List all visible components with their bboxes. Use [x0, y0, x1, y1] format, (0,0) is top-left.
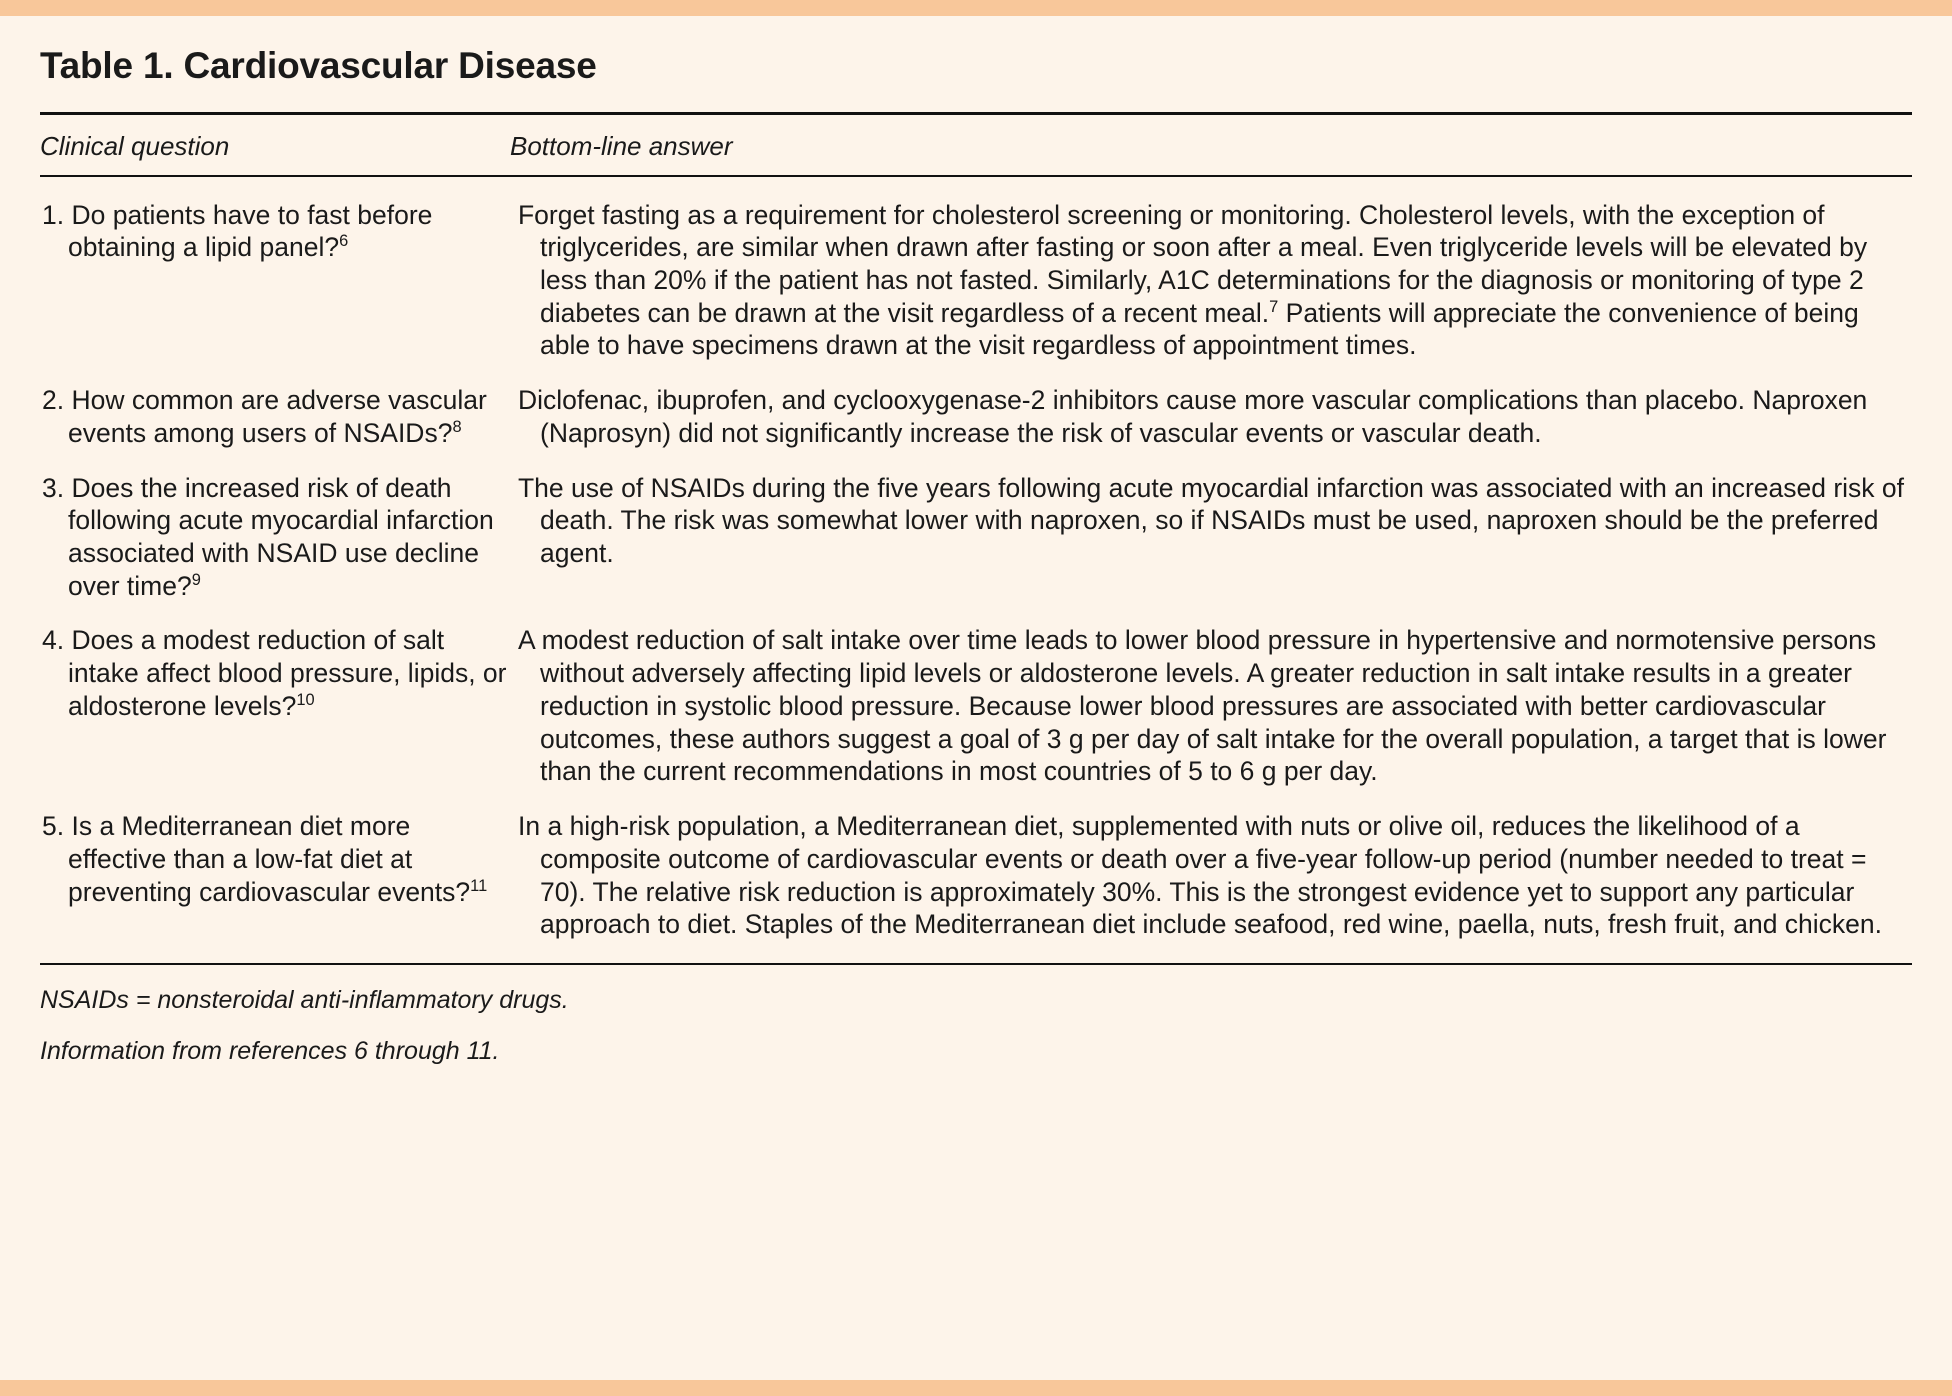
question-text: How common are adverse vascular events a…	[68, 385, 487, 448]
answer-cell: A modest reduction of salt intake over t…	[510, 624, 1912, 788]
question-reference: 8	[452, 418, 461, 436]
answer-text: In a high-risk population, a Mediterrane…	[518, 811, 1882, 939]
table-row: 3. Does the increased risk of death foll…	[40, 472, 1912, 603]
page-title: Table 1. Cardiovascular Disease	[40, 44, 1912, 88]
question-reference: 11	[470, 877, 487, 895]
question-text: Do patients have to fast before obtainin…	[68, 200, 432, 263]
question-number: 2.	[42, 385, 64, 415]
table-row: 4. Does a modest reduction of salt intak…	[40, 624, 1912, 788]
question-text: Is a Mediterranean diet more effective t…	[68, 811, 470, 906]
table-row: 2. How common are adverse vascular event…	[40, 384, 1912, 449]
question-text: Does the increased risk of death followi…	[68, 473, 494, 601]
column-header-row: Clinical question Bottom-line answer	[40, 115, 1912, 174]
footnote-abbreviations: NSAIDs = nonsteroidal anti-inflammatory …	[40, 985, 1912, 1016]
answer-cell: Diclofenac, ibuprofen, and cyclooxygenas…	[510, 384, 1912, 449]
question-cell: 3. Does the increased risk of death foll…	[40, 472, 510, 603]
table-body: 1. Do patients have to fast before obtai…	[40, 199, 1912, 941]
answer-text: The use of NSAIDs during the five years …	[518, 473, 1904, 568]
answer-cell: Forget fasting as a requirement for chol…	[510, 199, 1912, 363]
question-number: 5.	[42, 811, 64, 841]
question-number: 4.	[42, 625, 64, 655]
answer-text: A modest reduction of salt intake over t…	[518, 625, 1886, 786]
question-reference: 6	[339, 232, 348, 250]
answer-cell: In a high-risk population, a Mediterrane…	[510, 810, 1912, 941]
column-header-bottom-line-answer: Bottom-line answer	[510, 131, 1912, 162]
answer-text: Diclofenac, ibuprofen, and cyclooxygenas…	[518, 385, 1867, 448]
header-divider	[40, 175, 1912, 177]
table-row: 5. Is a Mediterranean diet more effectiv…	[40, 810, 1912, 941]
question-reference: 9	[192, 571, 201, 589]
question-cell: 4. Does a modest reduction of salt intak…	[40, 624, 510, 722]
question-number: 1.	[42, 200, 64, 230]
question-reference: 10	[296, 691, 314, 709]
footer-divider	[40, 963, 1912, 965]
column-header-clinical-question: Clinical question	[40, 131, 510, 162]
question-cell: 5. Is a Mediterranean diet more effectiv…	[40, 810, 510, 908]
question-text: Does a modest reduction of salt intake a…	[68, 625, 506, 720]
question-cell: 1. Do patients have to fast before obtai…	[40, 199, 510, 264]
question-number: 3.	[42, 473, 64, 503]
table-card: Table 1. Cardiovascular Disease Clinical…	[0, 0, 1952, 1396]
question-cell: 2. How common are adverse vascular event…	[40, 384, 510, 449]
table-row: 1. Do patients have to fast before obtai…	[40, 199, 1912, 363]
answer-cell: The use of NSAIDs during the five years …	[510, 472, 1912, 570]
answer-reference: 7	[1269, 298, 1278, 316]
footnote-source: Information from references 6 through 11…	[40, 1036, 1912, 1067]
